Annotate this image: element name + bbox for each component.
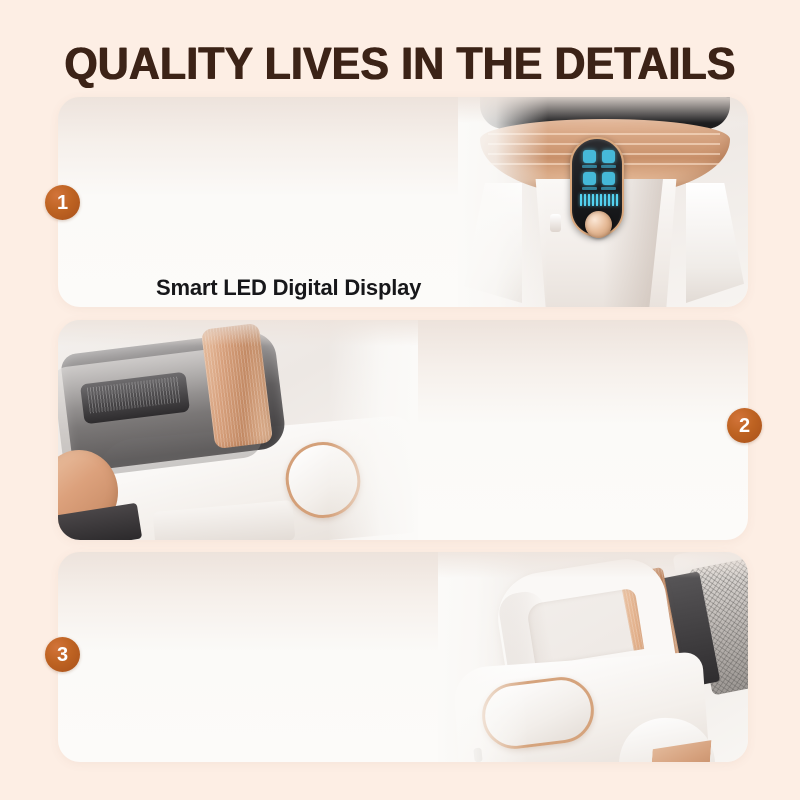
infographic-page: QUALITY LIVES IN THE DETAILS	[0, 0, 800, 800]
product-photo-grip-handle	[438, 552, 748, 762]
step-badge-3: 3	[45, 637, 80, 672]
battery-level-bargraph	[580, 194, 618, 206]
photo-fade-right	[328, 320, 418, 540]
feature-card-2: Dual Cyclonic Dustbin System 2.0 Upgrade…	[58, 320, 748, 540]
feature-title: Smart LED Digital Display	[156, 275, 421, 301]
battery-icon	[602, 172, 615, 185]
photo-fade-top	[458, 97, 748, 123]
led-control-panel	[570, 137, 624, 237]
step-badge-2: 2	[727, 408, 762, 443]
photo-fade-top	[58, 320, 418, 346]
photo-fade-top	[438, 552, 748, 578]
product-photo-dustbin	[58, 320, 418, 540]
photo-fade-left	[458, 97, 548, 307]
photo-fade-left	[438, 552, 528, 762]
battery-label	[601, 187, 616, 190]
feature-subtitle: Easy Start, Clear Operation	[156, 306, 421, 307]
page-title: QUALITY LIVES IN THE DETAILS	[20, 38, 780, 90]
brush-roll-label	[601, 165, 616, 168]
body-latch	[550, 214, 561, 232]
suction-mode-label	[582, 165, 597, 168]
filter-alert-label	[582, 187, 597, 190]
feature-card-1: Smart LED Digital Display Easy Start, Cl…	[58, 97, 748, 307]
filter-alert-icon	[583, 172, 596, 185]
power-button[interactable]	[585, 211, 612, 238]
suction-mode-icon	[583, 150, 596, 163]
step-badge-1: 1	[45, 185, 80, 220]
feature-text-1: Smart LED Digital Display Easy Start, Cl…	[156, 275, 421, 307]
feature-card-3: Ergonomic Grip Handle Labor-Saving Ergon…	[58, 552, 748, 762]
product-photo-led-display	[458, 97, 748, 307]
brush-roll-icon	[602, 150, 615, 163]
